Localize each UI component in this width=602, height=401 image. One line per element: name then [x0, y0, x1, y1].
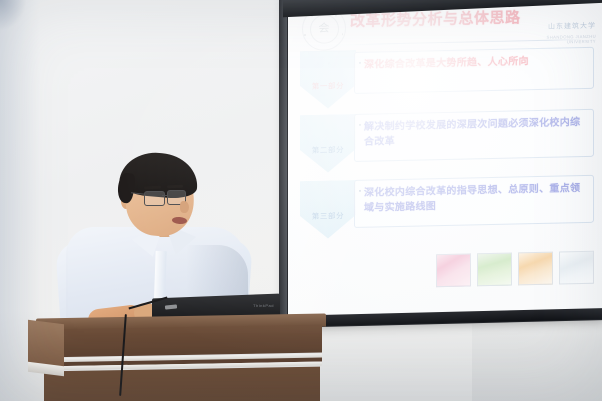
- speaker-eyebrow-right: [167, 185, 183, 188]
- podium-front-panel: [40, 325, 322, 358]
- section-text-1: 深化综合改革是大势所趋、人心所向: [364, 54, 587, 73]
- bullet-dot-icon: [359, 62, 361, 64]
- wall-corner-shadow: [0, 0, 26, 30]
- season-thumbnail-strip: [436, 251, 594, 288]
- watermark-cn: 山东建筑大学: [500, 23, 596, 34]
- section-box-2: 解决制约学校发展的深层次问题必须深化校内综合改革: [354, 109, 594, 162]
- projection-screen-left-edge: [279, 0, 287, 326]
- bullet-dot-icon: [359, 124, 361, 126]
- section-chevron-label-2: 第二部分: [300, 144, 356, 156]
- section-text-2: 解决制约学校发展的深层次问题必须深化校内综合改革: [364, 116, 587, 150]
- section-text-3: 深化校内综合改革的指导思想、总原则、重点领域与实施路线图: [364, 182, 587, 216]
- eyeglasses-bridge: [162, 195, 168, 196]
- summer-photo-thumbnail: [477, 253, 512, 287]
- section-box-3: 深化校内综合改革的指导思想、总原则、重点领域与实施路线图: [354, 175, 594, 228]
- bullet-dot-icon: [359, 190, 361, 192]
- podium: [36, 316, 326, 401]
- projected-slide: 会 改革形势分析与总体思路 山东建筑大学 SHANDONG JIANZHU UN…: [288, 0, 602, 317]
- eyeglasses-lens-left: [144, 191, 165, 206]
- laptop-brand-label: ThinkPad: [253, 303, 274, 308]
- section-chevron-label-3: 第三部分: [300, 210, 356, 222]
- section-box-1: 深化综合改革是大势所趋、人心所向: [354, 47, 594, 94]
- autumn-photo-thumbnail: [518, 252, 553, 286]
- podium-lower-panel: [44, 367, 320, 401]
- section-chevron-label-1: 第一部分: [300, 80, 356, 92]
- speaker-nose: [180, 201, 189, 213]
- winter-photo-thumbnail: [559, 251, 594, 285]
- spring-photo-thumbnail: [436, 253, 471, 287]
- presentation-scene: 会 改革形势分析与总体思路 山东建筑大学 SHANDONG JIANZHU UN…: [0, 0, 602, 401]
- watermark-en-line2: UNIVERSITY: [500, 39, 596, 46]
- slide-watermark: 山东建筑大学 SHANDONG JIANZHU UNIVERSITY: [500, 23, 596, 46]
